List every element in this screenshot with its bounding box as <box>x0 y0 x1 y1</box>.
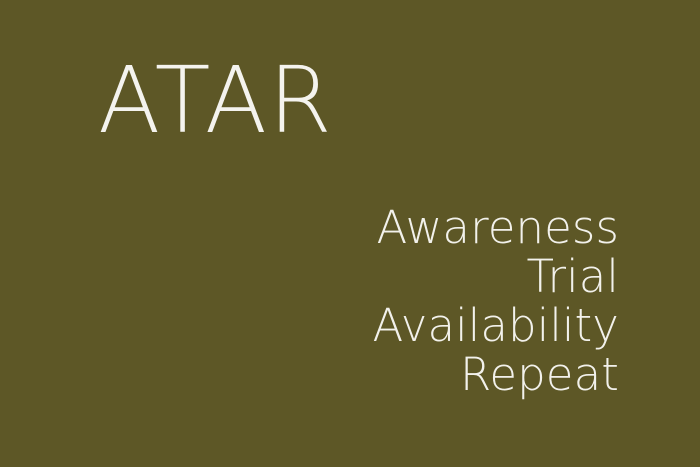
pillar-item-availability: Availability <box>259 301 619 350</box>
pillar-list: Awareness Trial Availability Repeat <box>259 203 619 399</box>
pillar-item-trial: Trial <box>259 252 619 301</box>
slide-title-block: ATAR <box>98 55 518 147</box>
pillar-item-awareness: Awareness <box>259 203 619 252</box>
slide-title: ATAR <box>98 55 514 147</box>
pillar-item-repeat: Repeat <box>259 350 619 399</box>
presentation-slide: ATAR Awareness Trial Availability Repeat <box>0 0 700 467</box>
